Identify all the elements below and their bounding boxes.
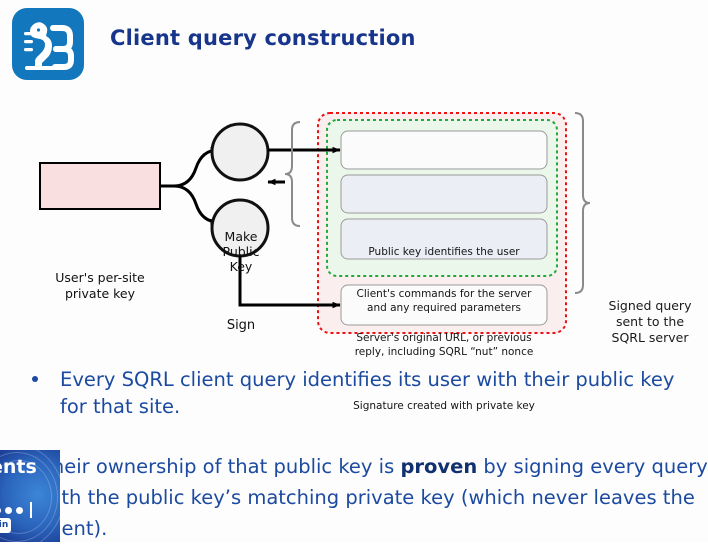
corner-badge-title: ents (0, 456, 37, 478)
slide-header: Client query construction (0, 0, 708, 92)
signed-query-line-3: SQRL server (612, 330, 689, 345)
sign-node (212, 200, 268, 256)
signed-query-line-2: sent to the (616, 314, 684, 329)
payload-box-2 (341, 219, 547, 259)
payload-box-3 (341, 285, 547, 325)
corner-badge-dots-icon (0, 502, 32, 518)
bullet-item-1-text: Every SQRL client query identifies its u… (60, 366, 692, 420)
bullet-item-2-text: Their ownership of that public key is pr… (40, 451, 708, 544)
source-box (40, 163, 160, 209)
bullet-item-1: Every SQRL client query identifies its u… (32, 366, 692, 420)
sqrl-logo-icon (8, 6, 88, 82)
page-title: Client query construction (110, 26, 416, 50)
signed-query-line-1: Signed query (609, 298, 692, 313)
bullet-item-2-emphasis: proven (400, 455, 477, 478)
payload-box-0 (341, 131, 547, 169)
corner-overlay-badge[interactable]: ents y in (0, 450, 60, 542)
signed-query-brace-label: Signed query sent to the SQRL server (596, 298, 704, 346)
make-public-key-node (212, 124, 268, 180)
bullet-item-2-prefix: Their ownership of that public key is (40, 455, 400, 478)
payload-box-1 (341, 175, 547, 213)
bullet-item-2: Their ownership of that public key is pr… (40, 451, 708, 544)
linkedin-icon[interactable]: in (0, 518, 11, 533)
bullet-dot-icon (32, 376, 38, 382)
client-query-construction-diagram: User's per-site private key Make Public … (0, 100, 708, 350)
